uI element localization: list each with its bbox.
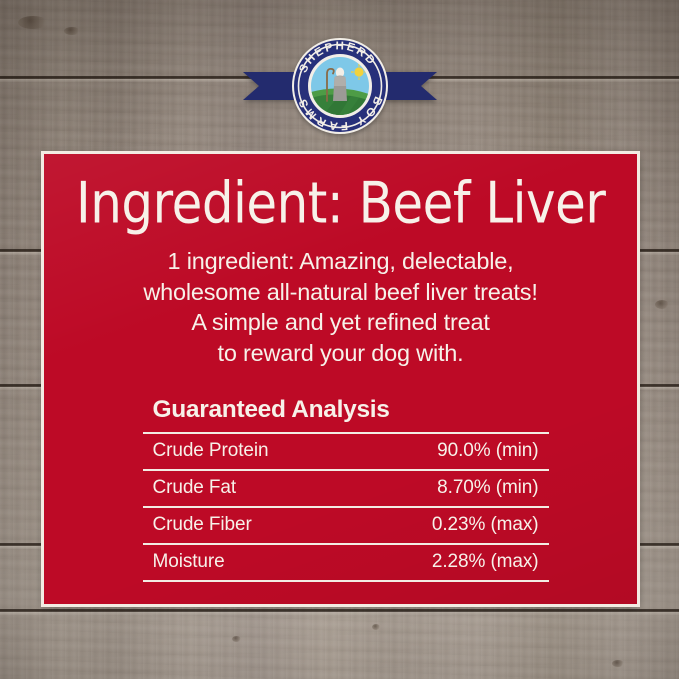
guaranteed-analysis-heading: Guaranteed Analysis (153, 396, 549, 424)
red-label-card: Ingredient: Beef Liver 1 ingredient: Ama… (44, 154, 637, 604)
guaranteed-analysis-table: Crude Protein 90.0% (min) Crude Fat 8.70… (143, 432, 549, 582)
nutrient-name: Crude Protein (143, 433, 354, 470)
description-line: A simple and yet refined treat (143, 307, 537, 338)
badge-circle: SHEPHERD BOY FARMS (292, 38, 388, 134)
nutrient-value: 90.0% (min) (353, 433, 548, 470)
guaranteed-analysis-section: Guaranteed Analysis Crude Protein 90.0% … (143, 396, 549, 582)
description-line: wholesome all-natural beef liver treats! (143, 277, 537, 308)
nutrient-value: 0.23% (max) (353, 507, 548, 544)
brand-logo: SHEPHERD BOY FARMS (0, 34, 679, 138)
product-description: 1 ingredient: Amazing, delectable, whole… (143, 246, 537, 368)
nutrient-value: 2.28% (max) (353, 544, 548, 581)
description-line: to reward your dog with. (143, 338, 537, 369)
nutrient-name: Crude Fat (143, 470, 354, 507)
nutrient-value: 8.70% (min) (353, 470, 548, 507)
description-line: 1 ingredient: Amazing, delectable, (143, 246, 537, 277)
product-label-image: SHEPHERD BOY FARMS Ingredient: Beef Live… (0, 0, 679, 679)
table-row: Crude Protein 90.0% (min) (143, 433, 549, 470)
table-row: Moisture 2.28% (max) (143, 544, 549, 581)
table-row: Crude Fiber 0.23% (max) (143, 507, 549, 544)
nutrient-name: Moisture (143, 544, 354, 581)
table-row: Crude Fat 8.70% (min) (143, 470, 549, 507)
page-title: Ingredient: Beef Liver (76, 174, 605, 233)
nutrient-name: Crude Fiber (143, 507, 354, 544)
